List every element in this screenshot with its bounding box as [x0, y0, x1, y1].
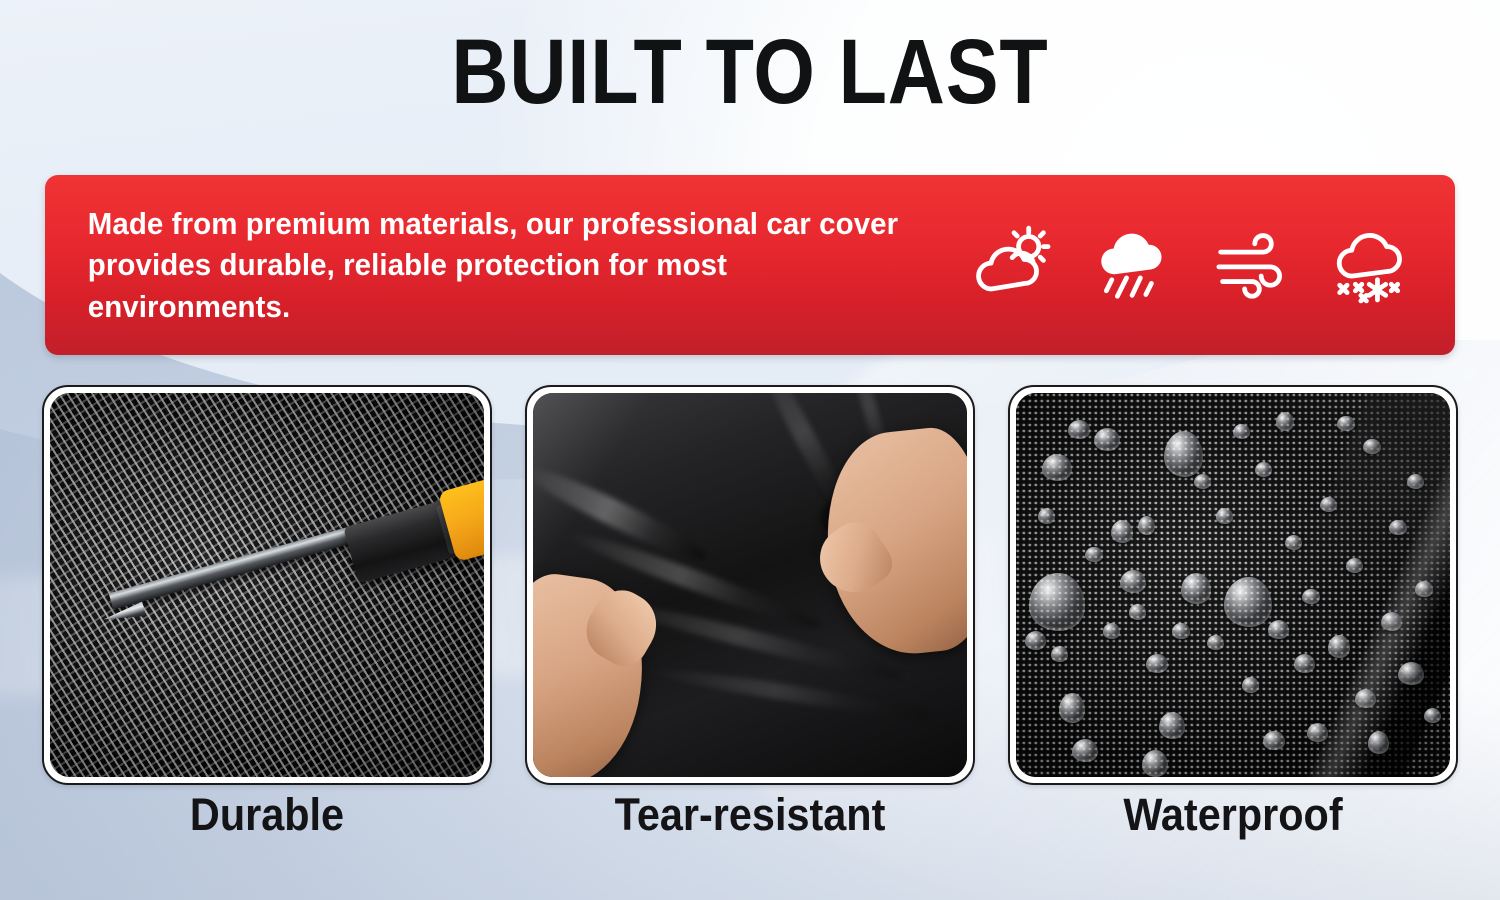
- water-droplet: [1164, 431, 1203, 477]
- water-droplet: [1103, 623, 1120, 638]
- banner-description: Made from premium materials, our profess…: [45, 203, 905, 327]
- snow-cloud-icon: [1325, 219, 1417, 311]
- water-droplet: [1138, 516, 1155, 535]
- tile-frame: [1008, 385, 1458, 785]
- rain-cloud-icon: [1087, 219, 1179, 311]
- water-droplet: [1424, 708, 1441, 723]
- water-droplet: [1194, 474, 1211, 489]
- water-droplet: [1224, 577, 1272, 627]
- water-droplet: [1120, 570, 1146, 593]
- water-droplet: [1302, 589, 1319, 604]
- fabric-weave-screwdriver-photo: [50, 393, 484, 777]
- water-droplet: [1276, 412, 1293, 431]
- water-droplet: [1051, 646, 1068, 661]
- weather-icon-row: [950, 175, 1455, 355]
- tile-frame: [42, 385, 492, 785]
- water-droplet: [1268, 620, 1290, 639]
- water-droplet: [1363, 439, 1380, 454]
- feature-caption: Waterproof: [1026, 789, 1440, 841]
- feature-tile-tear-resistant[interactable]: Tear-resistant: [525, 385, 975, 795]
- water-droplet: [1111, 520, 1133, 543]
- hands-stretching-cover-photo: [533, 393, 967, 777]
- water-droplet: [1328, 635, 1350, 658]
- water-droplet: [1233, 424, 1250, 439]
- water-droplet: [1242, 677, 1259, 692]
- water-droplet: [1415, 581, 1432, 596]
- water-droplet: [1216, 508, 1233, 523]
- sun-behind-cloud-icon: [968, 219, 1060, 311]
- water-droplet: [1368, 731, 1390, 754]
- water-droplet: [1142, 750, 1168, 777]
- feature-caption: Tear-resistant: [543, 789, 957, 841]
- water-droplet: [1381, 612, 1403, 631]
- water-droplet: [1181, 573, 1211, 604]
- water-droplet: [1094, 428, 1120, 451]
- feature-banner: Made from premium materials, our profess…: [45, 175, 1455, 355]
- photo-vignette: [50, 393, 484, 777]
- water-droplet: [1068, 420, 1090, 439]
- water-droplet: [1389, 520, 1406, 535]
- water-droplet: [1398, 662, 1424, 685]
- feature-tile-durable[interactable]: Durable: [42, 385, 492, 795]
- water-droplet: [1320, 497, 1337, 512]
- water-droplet: [1042, 454, 1072, 481]
- water-droplet: [1038, 508, 1055, 523]
- water-droplet: [1307, 723, 1329, 742]
- water-droplet: [1294, 654, 1316, 673]
- water-droplet: [1029, 573, 1085, 631]
- water-droplet: [1407, 474, 1424, 489]
- feature-caption: Durable: [60, 789, 474, 841]
- feature-tile-waterproof[interactable]: Waterproof: [1008, 385, 1458, 795]
- water-droplet: [1085, 547, 1102, 562]
- tile-frame: [525, 385, 975, 785]
- water-droplet: [1025, 631, 1047, 650]
- page-title: BUILT TO LAST: [105, 26, 1395, 118]
- water-droplet: [1146, 654, 1168, 673]
- wind-icon: [1206, 219, 1298, 311]
- water-droplet: [1129, 604, 1146, 619]
- feature-tiles: Durable Tear-resistant: [42, 385, 1458, 795]
- water-droplet: [1346, 558, 1363, 573]
- water-droplet: [1355, 689, 1377, 708]
- water-droplet: [1263, 731, 1285, 750]
- water-droplets-fabric-photo: [1016, 393, 1450, 777]
- water-droplet: [1159, 712, 1185, 739]
- water-droplet: [1207, 635, 1224, 650]
- water-droplet: [1337, 416, 1354, 431]
- water-droplet: [1255, 462, 1272, 477]
- water-droplet: [1172, 623, 1189, 638]
